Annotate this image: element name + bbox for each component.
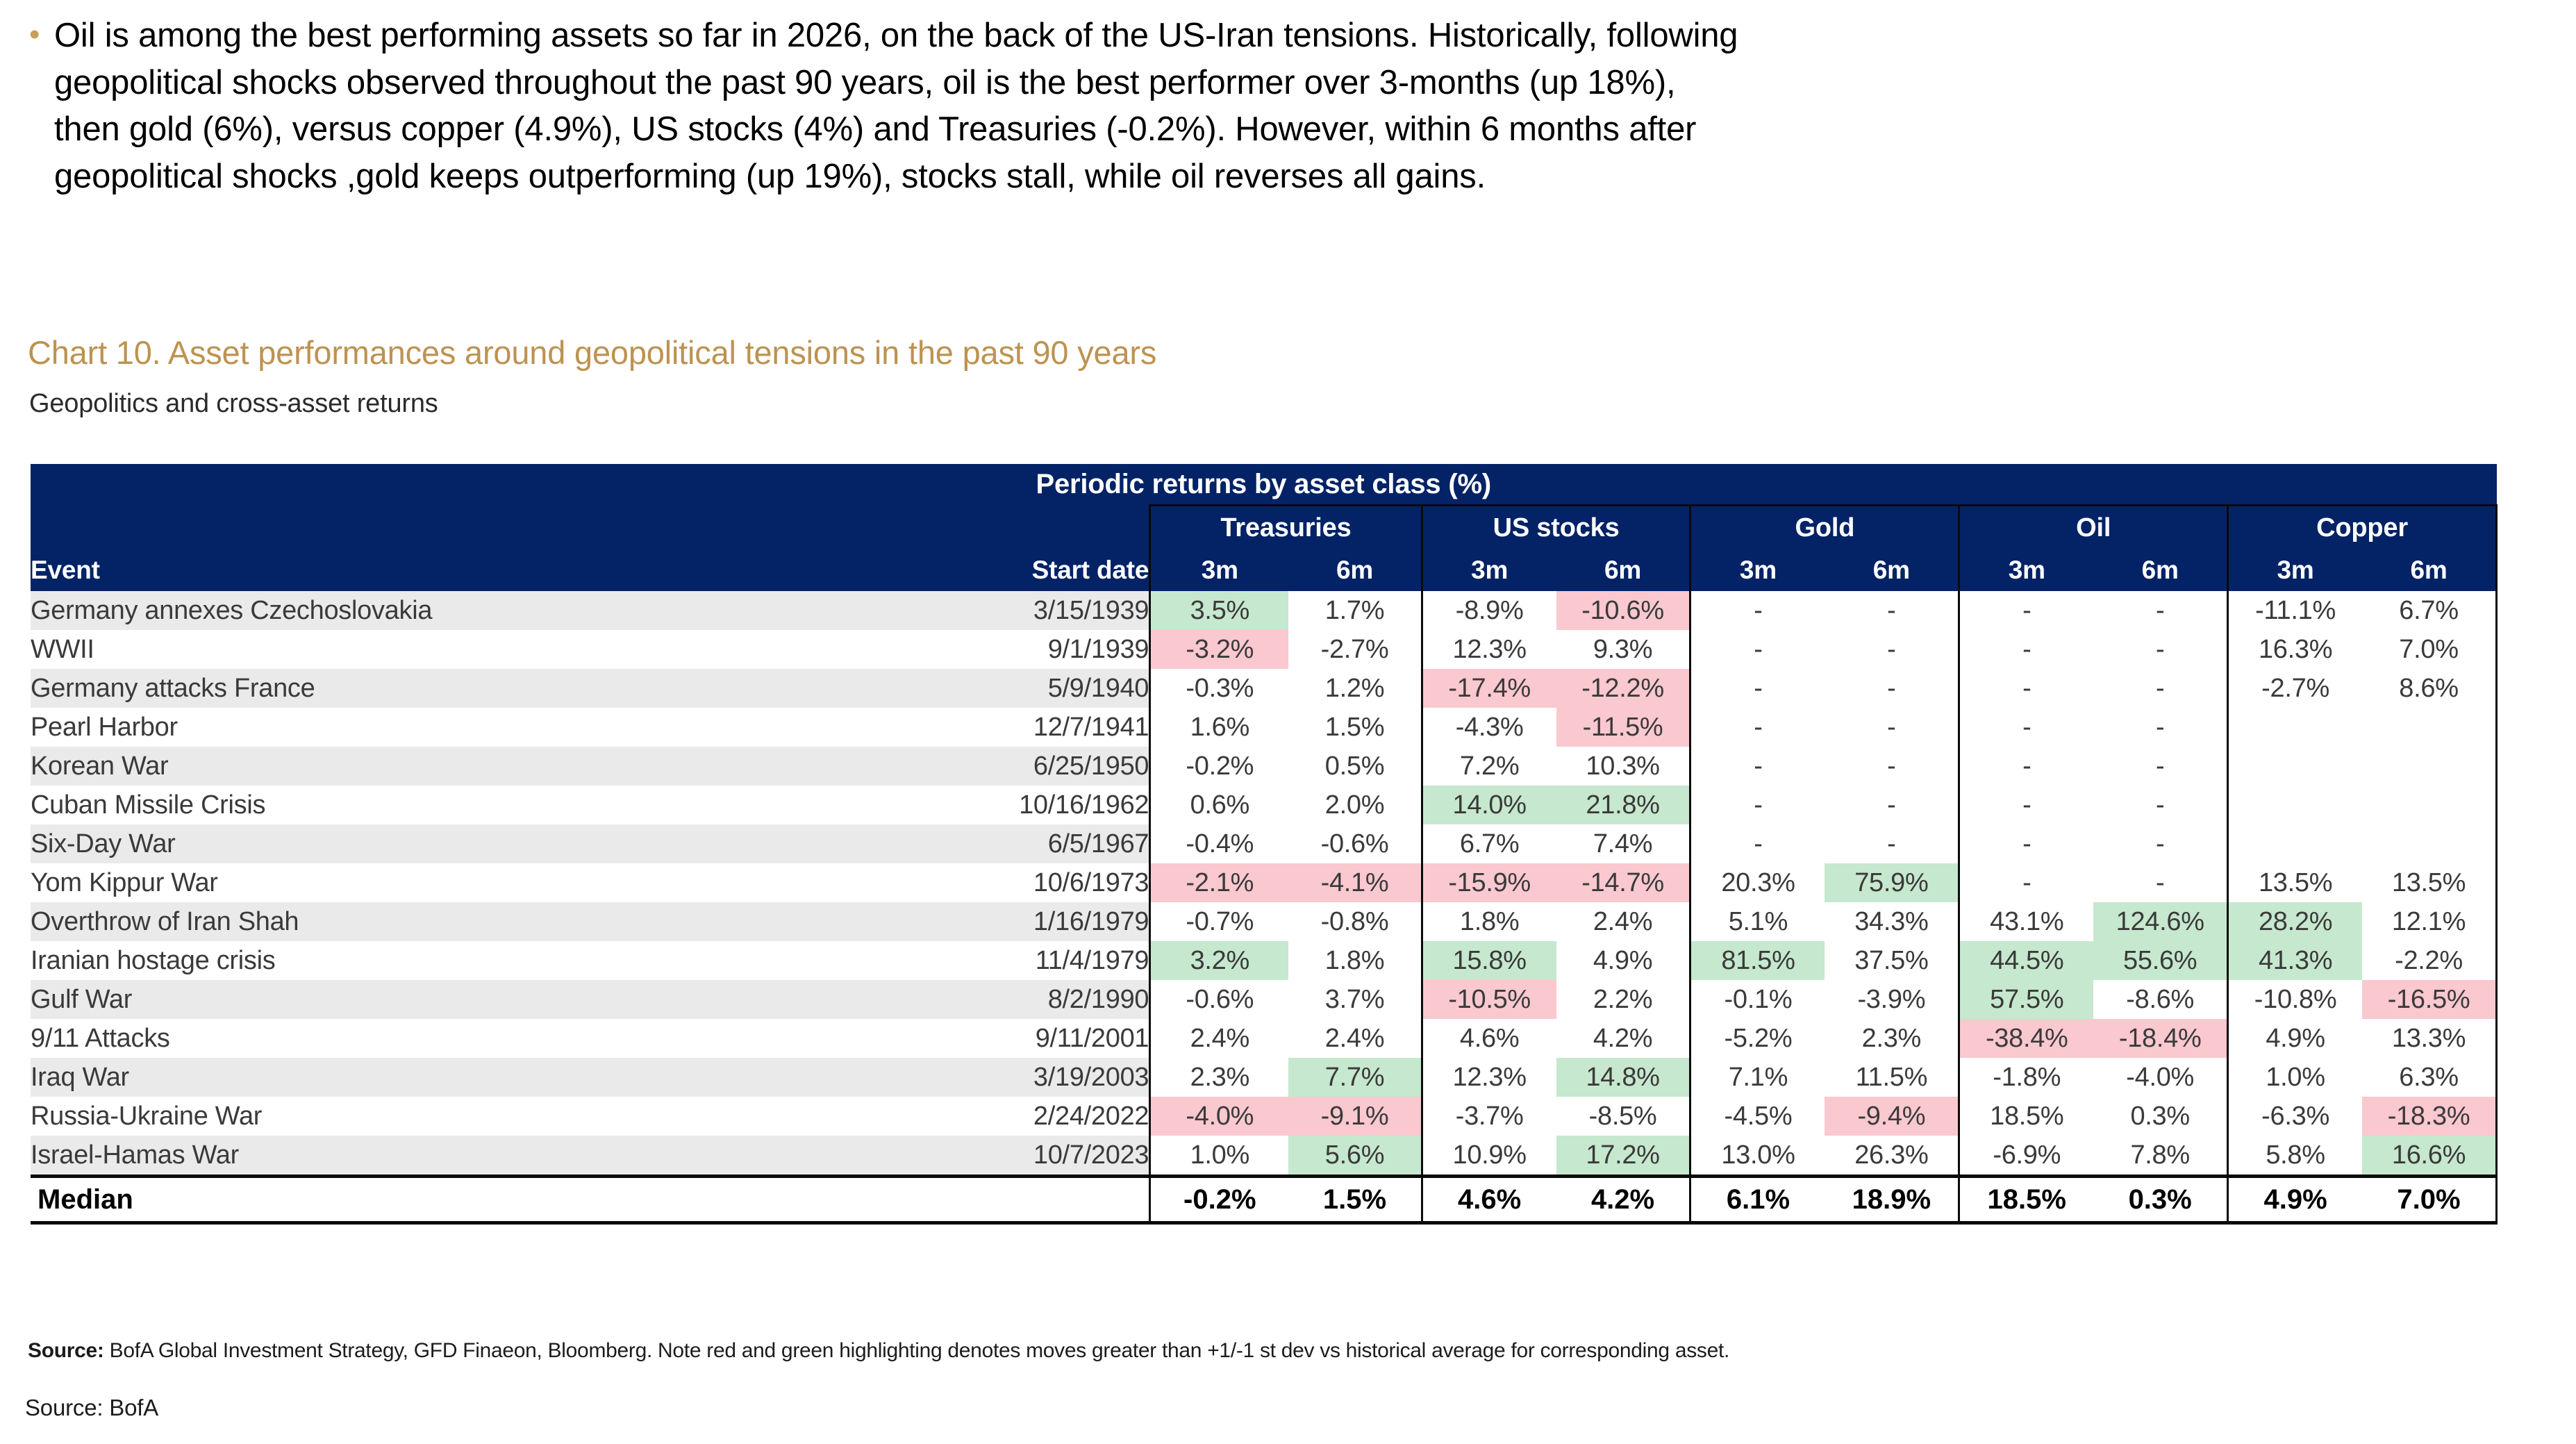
row-value-cell: -17.4% <box>1422 669 1556 708</box>
column-header-gold-6m: 6m <box>1825 549 1959 591</box>
row-value-cell: 7.0% <box>2362 630 2496 669</box>
row-value-cell <box>2228 708 2362 747</box>
row-start-date: 6/5/1967 <box>958 824 1149 863</box>
row-value-cell: 2.4% <box>1556 902 1690 941</box>
row-value-cell: -2.2% <box>2362 941 2496 980</box>
row-value-cell: - <box>2093 824 2227 863</box>
row-value-cell: -2.7% <box>1288 630 1422 669</box>
row-value-cell: -4.3% <box>1422 708 1556 747</box>
row-event-label: Gulf War <box>31 980 958 1019</box>
row-value-cell: 17.2% <box>1556 1136 1690 1177</box>
row-value-cell: - <box>1690 669 1825 708</box>
row-value-cell: 34.3% <box>1825 902 1959 941</box>
row-value-cell: -12.2% <box>1556 669 1690 708</box>
row-start-date: 3/19/2003 <box>958 1058 1149 1097</box>
row-start-date: 10/7/2023 <box>958 1136 1149 1177</box>
row-value-cell: - <box>1959 591 2093 630</box>
row-value-cell: - <box>1690 747 1825 786</box>
row-value-cell: - <box>1690 591 1825 630</box>
median-value-cell: 7.0% <box>2362 1177 2496 1223</box>
returns-table-wrapper: Periodic returns by asset class (%) Trea… <box>31 464 2498 1225</box>
row-value-cell <box>2362 824 2496 863</box>
row-value-cell: - <box>1959 708 2093 747</box>
row-value-cell: -5.2% <box>1690 1019 1825 1058</box>
row-value-cell: 0.3% <box>2093 1097 2227 1136</box>
returns-table: Periodic returns by asset class (%) Trea… <box>31 464 2498 1225</box>
row-value-cell: 37.5% <box>1825 941 1959 980</box>
row-value-cell: - <box>2093 863 2227 902</box>
column-header-treasuries-6m: 6m <box>1288 549 1422 591</box>
row-value-cell: 4.9% <box>1556 941 1690 980</box>
row-value-cell: - <box>1959 630 2093 669</box>
row-value-cell: 16.6% <box>2362 1136 2496 1177</box>
group-header-gold: Gold <box>1690 506 1959 550</box>
row-value-cell: - <box>1959 786 2093 824</box>
row-value-cell: -0.6% <box>1150 980 1289 1019</box>
source-label: Source: <box>28 1339 104 1362</box>
row-value-cell: -0.3% <box>1150 669 1289 708</box>
row-value-cell: 7.1% <box>1690 1058 1825 1097</box>
column-header-treasuries-3m: 3m <box>1150 549 1289 591</box>
row-value-cell: - <box>1825 708 1959 747</box>
row-value-cell: 20.3% <box>1690 863 1825 902</box>
row-event-label: Iraq War <box>31 1058 958 1097</box>
row-value-cell: 3.5% <box>1150 591 1289 630</box>
row-value-cell: 2.3% <box>1150 1058 1289 1097</box>
row-event-label: Cuban Missile Crisis <box>31 786 958 824</box>
band-title-row: Periodic returns by asset class (%) <box>31 464 2497 506</box>
row-value-cell: -8.5% <box>1556 1097 1690 1136</box>
row-value-cell: - <box>1690 786 1825 824</box>
row-event-label: Germany annexes Czechoslovakia <box>31 591 958 630</box>
row-value-cell: 13.0% <box>1690 1136 1825 1177</box>
row-event-label: Six-Day War <box>31 824 958 863</box>
row-value-cell: 2.0% <box>1288 786 1422 824</box>
row-value-cell: 11.5% <box>1825 1058 1959 1097</box>
group-header-oil: Oil <box>1959 506 2228 550</box>
row-value-cell: -10.8% <box>2228 980 2362 1019</box>
bullet-paragraph: • Oil is among the best performing asset… <box>24 13 2538 200</box>
row-value-cell: 5.1% <box>1690 902 1825 941</box>
row-value-cell: -8.9% <box>1422 591 1556 630</box>
row-value-cell: -0.7% <box>1150 902 1289 941</box>
row-event-label: Yom Kippur War <box>31 863 958 902</box>
median-value-cell: 1.5% <box>1288 1177 1422 1223</box>
row-value-cell: 43.1% <box>1959 902 2093 941</box>
column-header-us-stocks-6m: 6m <box>1556 549 1690 591</box>
row-value-cell: - <box>2093 708 2227 747</box>
row-value-cell: 0.5% <box>1288 747 1422 786</box>
row-value-cell: 4.9% <box>2228 1019 2362 1058</box>
row-value-cell: 0.6% <box>1150 786 1289 824</box>
row-value-cell: - <box>2093 786 2227 824</box>
median-date <box>958 1177 1149 1223</box>
row-value-cell: - <box>2093 669 2227 708</box>
source-bofa: Source: BofA <box>25 1395 158 1421</box>
median-value-cell: 18.5% <box>1959 1177 2093 1223</box>
row-value-cell: -8.6% <box>2093 980 2227 1019</box>
row-value-cell: 21.8% <box>1556 786 1690 824</box>
row-value-cell: -0.1% <box>1690 980 1825 1019</box>
row-value-cell: 124.6% <box>2093 902 2227 941</box>
row-value-cell: - <box>1959 747 2093 786</box>
chart-subtitle: Geopolitics and cross-asset returns <box>29 389 438 419</box>
band-title: Periodic returns by asset class (%) <box>31 464 2497 506</box>
row-value-cell: - <box>1825 669 1959 708</box>
row-value-cell: 1.8% <box>1288 941 1422 980</box>
row-value-cell: 1.0% <box>1150 1136 1289 1177</box>
row-value-cell: -0.2% <box>1150 747 1289 786</box>
table-row: Israel-Hamas War10/7/20231.0%5.6%10.9%17… <box>31 1136 2497 1177</box>
row-value-cell: 12.1% <box>2362 902 2496 941</box>
row-value-cell: -18.4% <box>2093 1019 2227 1058</box>
row-value-cell: -0.4% <box>1150 824 1289 863</box>
row-value-cell: -18.3% <box>2362 1097 2496 1136</box>
row-value-cell: 14.8% <box>1556 1058 1690 1097</box>
row-value-cell: 13.5% <box>2362 863 2496 902</box>
row-value-cell: 7.8% <box>2093 1136 2227 1177</box>
row-value-cell: -6.9% <box>1959 1136 2093 1177</box>
row-value-cell: - <box>1825 824 1959 863</box>
median-value-cell: 4.9% <box>2228 1177 2362 1223</box>
row-start-date: 11/4/1979 <box>958 941 1149 980</box>
row-start-date: 10/6/1973 <box>958 863 1149 902</box>
row-event-label: Overthrow of Iran Shah <box>31 902 958 941</box>
row-value-cell: - <box>1825 630 1959 669</box>
row-value-cell: -0.6% <box>1288 824 1422 863</box>
row-value-cell: -16.5% <box>2362 980 2496 1019</box>
row-value-cell: 10.9% <box>1422 1136 1556 1177</box>
row-value-cell: - <box>1825 786 1959 824</box>
row-value-cell: -10.6% <box>1556 591 1690 630</box>
bullet-line-1: Oil is among the best performing assets … <box>54 13 2538 60</box>
row-start-date: 1/16/1979 <box>958 902 1149 941</box>
row-value-cell: 81.5% <box>1690 941 1825 980</box>
row-value-cell: -3.2% <box>1150 630 1289 669</box>
row-value-cell: -3.7% <box>1422 1097 1556 1136</box>
row-value-cell: - <box>1825 591 1959 630</box>
row-start-date: 12/7/1941 <box>958 708 1149 747</box>
table-row: Iranian hostage crisis11/4/19793.2%1.8%1… <box>31 941 2497 980</box>
row-value-cell: - <box>2093 747 2227 786</box>
row-value-cell: - <box>1690 630 1825 669</box>
row-start-date: 6/25/1950 <box>958 747 1149 786</box>
row-value-cell: 7.7% <box>1288 1058 1422 1097</box>
bullet-text: Oil is among the best performing assets … <box>54 13 2538 200</box>
row-value-cell: -9.1% <box>1288 1097 1422 1136</box>
median-row: Median-0.2%1.5%4.6%4.2%6.1%18.9%18.5%0.3… <box>31 1177 2497 1223</box>
row-value-cell: -4.0% <box>1150 1097 1289 1136</box>
row-value-cell: - <box>2093 591 2227 630</box>
table-row: WWII9/1/1939-3.2%-2.7%12.3%9.3%----16.3%… <box>31 630 2497 669</box>
row-value-cell: -9.4% <box>1825 1097 1959 1136</box>
median-value-cell: 0.3% <box>2093 1177 2227 1223</box>
row-value-cell: 2.2% <box>1556 980 1690 1019</box>
row-start-date: 9/11/2001 <box>958 1019 1149 1058</box>
row-value-cell <box>2362 786 2496 824</box>
source-note: Source: BofA Global Investment Strategy,… <box>28 1339 1729 1363</box>
row-event-label: Germany attacks France <box>31 669 958 708</box>
column-header-oil-6m: 6m <box>2093 549 2227 591</box>
row-event-label: Pearl Harbor <box>31 708 958 747</box>
row-value-cell: - <box>1690 824 1825 863</box>
table-row: Pearl Harbor12/7/19411.6%1.5%-4.3%-11.5%… <box>31 708 2497 747</box>
row-value-cell <box>2228 824 2362 863</box>
row-value-cell: 4.2% <box>1556 1019 1690 1058</box>
row-value-cell: -11.1% <box>2228 591 2362 630</box>
row-value-cell: -14.7% <box>1556 863 1690 902</box>
row-event-label: Iranian hostage crisis <box>31 941 958 980</box>
group-header-copper: Copper <box>2228 506 2497 550</box>
table-row: Cuban Missile Crisis10/16/19620.6%2.0%14… <box>31 786 2497 824</box>
row-value-cell: - <box>1959 824 2093 863</box>
table-row: Gulf War8/2/1990-0.6%3.7%-10.5%2.2%-0.1%… <box>31 980 2497 1019</box>
table-header: Periodic returns by asset class (%) Trea… <box>31 464 2497 591</box>
row-event-label: Russia-Ukraine War <box>31 1097 958 1136</box>
row-value-cell: -11.5% <box>1556 708 1690 747</box>
row-value-cell: 18.5% <box>1959 1097 2093 1136</box>
median-label: Median <box>31 1177 958 1223</box>
row-value-cell: 12.3% <box>1422 630 1556 669</box>
row-value-cell: -6.3% <box>2228 1097 2362 1136</box>
row-value-cell: -4.0% <box>2093 1058 2227 1097</box>
row-start-date: 3/15/1939 <box>958 591 1149 630</box>
row-start-date: 9/1/1939 <box>958 630 1149 669</box>
row-value-cell: 55.6% <box>2093 941 2227 980</box>
row-value-cell: 1.0% <box>2228 1058 2362 1097</box>
row-value-cell: -4.5% <box>1690 1097 1825 1136</box>
row-start-date: 5/9/1940 <box>958 669 1149 708</box>
row-value-cell: 1.6% <box>1150 708 1289 747</box>
row-value-cell: -38.4% <box>1959 1019 2093 1058</box>
table-row: Iraq War3/19/20032.3%7.7%12.3%14.8%7.1%1… <box>31 1058 2497 1097</box>
row-value-cell: 6.7% <box>2362 591 2496 630</box>
group-header-treasuries: Treasuries <box>1150 506 1422 550</box>
row-value-cell: 2.4% <box>1150 1019 1289 1058</box>
table-row: Germany annexes Czechoslovakia3/15/19393… <box>31 591 2497 630</box>
row-value-cell: 1.8% <box>1422 902 1556 941</box>
row-value-cell: - <box>2093 630 2227 669</box>
row-value-cell: 8.6% <box>2362 669 2496 708</box>
row-value-cell: 41.3% <box>2228 941 2362 980</box>
period-header-row: Event Start date 3m 6m 3m 6m 3m 6m 3m 6m… <box>31 549 2497 591</box>
row-value-cell <box>2228 786 2362 824</box>
row-start-date: 8/2/1990 <box>958 980 1149 1019</box>
row-value-cell: 16.3% <box>2228 630 2362 669</box>
row-event-label: WWII <box>31 630 958 669</box>
median-value-cell: -0.2% <box>1150 1177 1289 1223</box>
row-value-cell: -2.1% <box>1150 863 1289 902</box>
row-value-cell: 6.7% <box>1422 824 1556 863</box>
row-value-cell: -2.7% <box>2228 669 2362 708</box>
row-value-cell: 6.3% <box>2362 1058 2496 1097</box>
row-value-cell: 3.2% <box>1150 941 1289 980</box>
median-value-cell: 4.2% <box>1556 1177 1690 1223</box>
bullet-line-2: geopolitical shocks observed throughout … <box>54 60 2538 107</box>
row-value-cell <box>2362 747 2496 786</box>
row-value-cell: 28.2% <box>2228 902 2362 941</box>
row-value-cell: 1.2% <box>1288 669 1422 708</box>
row-value-cell: 44.5% <box>1959 941 2093 980</box>
row-value-cell: 75.9% <box>1825 863 1959 902</box>
column-header-start-date: Start date <box>958 549 1149 591</box>
row-value-cell: -3.9% <box>1825 980 1959 1019</box>
row-value-cell: 9.3% <box>1556 630 1690 669</box>
slide-page: • Oil is among the best performing asset… <box>0 0 2576 1444</box>
table-row: Germany attacks France5/9/1940-0.3%1.2%-… <box>31 669 2497 708</box>
table-row: Korean War6/25/1950-0.2%0.5%7.2%10.3%---… <box>31 747 2497 786</box>
row-value-cell: 15.8% <box>1422 941 1556 980</box>
row-value-cell: - <box>1959 863 2093 902</box>
row-value-cell: 2.3% <box>1825 1019 1959 1058</box>
column-header-copper-3m: 3m <box>2228 549 2362 591</box>
table-row: Russia-Ukraine War2/24/2022-4.0%-9.1%-3.… <box>31 1097 2497 1136</box>
row-value-cell: 26.3% <box>1825 1136 1959 1177</box>
row-start-date: 2/24/2022 <box>958 1097 1149 1136</box>
group-header-us-stocks: US stocks <box>1422 506 1690 550</box>
row-value-cell: 5.8% <box>2228 1136 2362 1177</box>
row-value-cell: 1.7% <box>1288 591 1422 630</box>
column-header-event: Event <box>31 549 958 591</box>
row-value-cell: - <box>1825 747 1959 786</box>
row-event-label: Israel-Hamas War <box>31 1136 958 1177</box>
row-event-label: 9/11 Attacks <box>31 1019 958 1058</box>
row-value-cell: 13.3% <box>2362 1019 2496 1058</box>
row-value-cell: 14.0% <box>1422 786 1556 824</box>
row-value-cell: 2.4% <box>1288 1019 1422 1058</box>
row-event-label: Korean War <box>31 747 958 786</box>
median-value-cell: 4.6% <box>1422 1177 1556 1223</box>
column-header-copper-6m: 6m <box>2362 549 2496 591</box>
row-value-cell: 7.2% <box>1422 747 1556 786</box>
row-value-cell: -1.8% <box>1959 1058 2093 1097</box>
row-value-cell: - <box>1959 669 2093 708</box>
group-header-row: Treasuries US stocks Gold Oil Copper <box>31 506 2497 550</box>
row-value-cell: 3.7% <box>1288 980 1422 1019</box>
table-row: 9/11 Attacks9/11/20012.4%2.4%4.6%4.2%-5.… <box>31 1019 2497 1058</box>
table-row: Yom Kippur War10/6/1973-2.1%-4.1%-15.9%-… <box>31 863 2497 902</box>
bullet-line-4: geopolitical shocks ,gold keeps outperfo… <box>54 153 2538 201</box>
row-value-cell: 12.3% <box>1422 1058 1556 1097</box>
bullet-marker-icon: • <box>24 13 54 200</box>
column-header-us-stocks-3m: 3m <box>1422 549 1556 591</box>
row-value-cell: 7.4% <box>1556 824 1690 863</box>
median-value-cell: 18.9% <box>1825 1177 1959 1223</box>
table-row: Overthrow of Iran Shah1/16/1979-0.7%-0.8… <box>31 902 2497 941</box>
column-header-oil-3m: 3m <box>1959 549 2093 591</box>
row-value-cell: 57.5% <box>1959 980 2093 1019</box>
row-start-date: 10/16/1962 <box>958 786 1149 824</box>
row-value-cell: -10.5% <box>1422 980 1556 1019</box>
row-value-cell <box>2362 708 2496 747</box>
source-note-text: BofA Global Investment Strategy, GFD Fin… <box>104 1339 1729 1362</box>
median-value-cell: 6.1% <box>1690 1177 1825 1223</box>
row-value-cell: 13.5% <box>2228 863 2362 902</box>
row-value-cell <box>2228 747 2362 786</box>
row-value-cell: 4.6% <box>1422 1019 1556 1058</box>
bullet-line-3: then gold (6%), versus copper (4.9%), US… <box>54 106 2538 153</box>
row-value-cell: 1.5% <box>1288 708 1422 747</box>
row-value-cell: 5.6% <box>1288 1136 1422 1177</box>
row-value-cell: - <box>1690 708 1825 747</box>
row-value-cell: -4.1% <box>1288 863 1422 902</box>
table-row: Six-Day War6/5/1967-0.4%-0.6%6.7%7.4%---… <box>31 824 2497 863</box>
column-header-gold-3m: 3m <box>1690 549 1825 591</box>
table-body: Germany annexes Czechoslovakia3/15/19393… <box>31 591 2497 1223</box>
row-value-cell: -15.9% <box>1422 863 1556 902</box>
row-value-cell: -0.8% <box>1288 902 1422 941</box>
row-value-cell: 10.3% <box>1556 747 1690 786</box>
chart-title: Chart 10. Asset performances around geop… <box>28 333 1156 372</box>
